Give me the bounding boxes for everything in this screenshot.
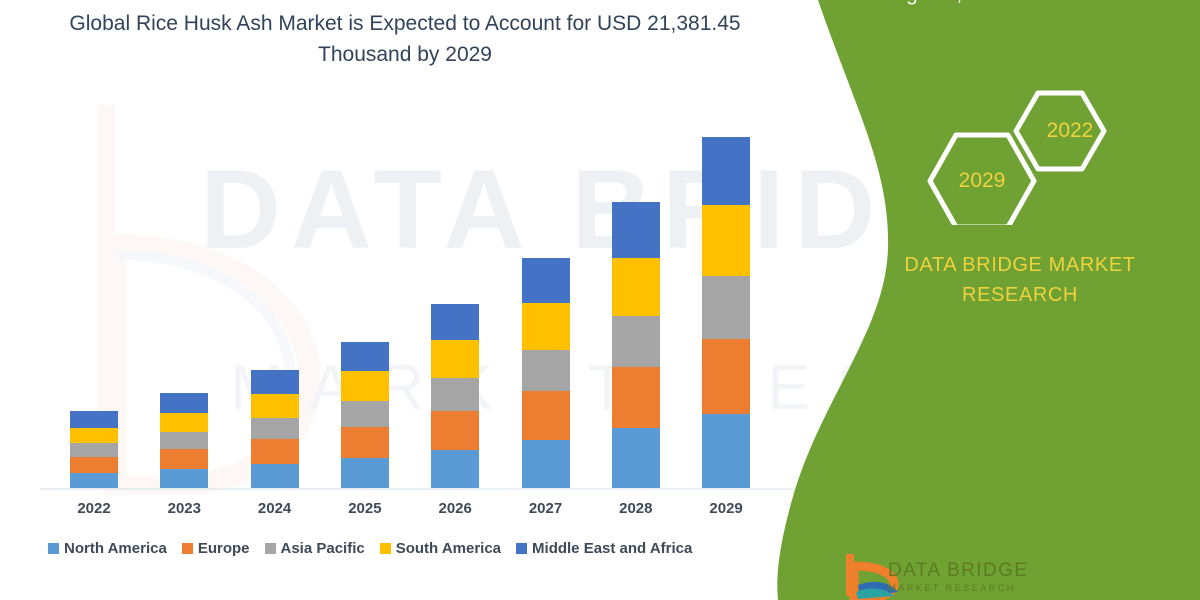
legend-swatch-asia-pacific xyxy=(265,543,276,554)
bar-2026[interactable] xyxy=(431,304,479,488)
x-axis-label-2022: 2022 xyxy=(70,500,118,517)
bar-segment-south-america[interactable] xyxy=(251,394,299,418)
bar-segment-middle-east-and-africa[interactable] xyxy=(70,411,118,428)
bar-segment-north-america[interactable] xyxy=(612,428,660,488)
x-axis-label-2023: 2023 xyxy=(160,500,208,517)
hexagon-group: 2022 2029 xyxy=(900,85,1160,225)
bar-segment-north-america[interactable] xyxy=(160,469,208,488)
footer-logo-tagline: MARKET RESEARCH xyxy=(888,583,1016,594)
bar-segment-south-america[interactable] xyxy=(702,205,750,276)
bar-segment-asia-pacific[interactable] xyxy=(612,316,660,367)
bar-segment-north-america[interactable] xyxy=(70,473,118,488)
bar-segment-europe[interactable] xyxy=(70,457,118,473)
legend-item-asia-pacific[interactable]: Asia Pacific xyxy=(265,540,365,557)
x-axis-label-2024: 2024 xyxy=(251,500,299,517)
bar-segment-asia-pacific[interactable] xyxy=(160,432,208,449)
brand-line-1: DATA BRIDGE MARKET xyxy=(860,250,1180,280)
bar-segment-north-america[interactable] xyxy=(522,440,570,488)
footer-logo-name: DATA BRIDGE xyxy=(888,560,1028,582)
bar-segment-europe[interactable] xyxy=(431,411,479,450)
bar-segment-south-america[interactable] xyxy=(160,413,208,432)
bar-segment-middle-east-and-africa[interactable] xyxy=(522,258,570,303)
x-axis-label-2029: 2029 xyxy=(702,500,750,517)
bar-segment-europe[interactable] xyxy=(160,449,208,469)
x-axis-label-2027: 2027 xyxy=(522,500,570,517)
bar-2027[interactable] xyxy=(522,258,570,488)
legend-swatch-south-america xyxy=(380,543,391,554)
bar-segment-europe[interactable] xyxy=(702,339,750,414)
chart-legend: North AmericaEuropeAsia PacificSouth Ame… xyxy=(48,540,788,557)
legend-item-north-america[interactable]: North America xyxy=(48,540,167,557)
bar-segment-north-america[interactable] xyxy=(702,414,750,488)
bar-segment-north-america[interactable] xyxy=(251,464,299,488)
bar-segment-asia-pacific[interactable] xyxy=(70,443,118,457)
bar-2024[interactable] xyxy=(251,370,299,488)
x-axis-label-2025: 2025 xyxy=(341,500,389,517)
bar-segment-asia-pacific[interactable] xyxy=(251,418,299,439)
hexagon-label-2029: 2029 xyxy=(944,169,1020,193)
bar-2028[interactable] xyxy=(612,202,660,488)
bar-segment-asia-pacific[interactable] xyxy=(431,378,479,411)
bar-segment-south-america[interactable] xyxy=(70,428,118,443)
bar-segment-asia-pacific[interactable] xyxy=(702,276,750,339)
bar-segment-middle-east-and-africa[interactable] xyxy=(251,370,299,394)
bar-segment-north-america[interactable] xyxy=(341,458,389,488)
legend-label-europe: Europe xyxy=(198,540,250,557)
legend-label-south-america: South America xyxy=(396,540,501,557)
green-panel-heading: Regions, 2022 to 2029 xyxy=(770,0,1200,10)
bar-segment-asia-pacific[interactable] xyxy=(522,350,570,391)
hexagon-label-2022: 2022 xyxy=(1032,119,1108,143)
bar-segment-south-america[interactable] xyxy=(522,303,570,350)
bar-segment-middle-east-and-africa[interactable] xyxy=(612,202,660,258)
bar-segment-middle-east-and-africa[interactable] xyxy=(341,342,389,371)
brand-block: DATA BRIDGE MARKET RESEARCH xyxy=(860,250,1180,310)
bar-segment-europe[interactable] xyxy=(251,439,299,464)
legend-item-middle-east-and-africa[interactable]: Middle East and Africa xyxy=(516,540,692,557)
bar-segment-europe[interactable] xyxy=(522,391,570,440)
chart-baseline xyxy=(40,488,800,490)
legend-swatch-middle-east-and-africa xyxy=(516,543,527,554)
bar-segment-middle-east-and-africa[interactable] xyxy=(702,137,750,205)
bar-segment-middle-east-and-africa[interactable] xyxy=(431,304,479,340)
hexagon-shapes xyxy=(900,85,1160,225)
bar-segment-north-america[interactable] xyxy=(431,450,479,488)
x-axis-label-2028: 2028 xyxy=(612,500,660,517)
legend-label-north-america: North America xyxy=(64,540,167,557)
bar-segment-europe[interactable] xyxy=(612,367,660,428)
bar-segment-europe[interactable] xyxy=(341,427,389,458)
x-axis-label-2026: 2026 xyxy=(431,500,479,517)
legend-label-asia-pacific: Asia Pacific xyxy=(281,540,365,557)
legend-item-europe[interactable]: Europe xyxy=(182,540,250,557)
legend-swatch-europe xyxy=(182,543,193,554)
bar-2022[interactable] xyxy=(70,411,118,488)
legend-label-middle-east-and-africa: Middle East and Africa xyxy=(532,540,692,557)
legend-item-south-america[interactable]: South America xyxy=(380,540,501,557)
legend-swatch-north-america xyxy=(48,543,59,554)
stacked-bar-chart: 20222023202420252026202720282029 North A… xyxy=(0,0,820,600)
bar-segment-middle-east-and-africa[interactable] xyxy=(160,393,208,413)
bar-segment-asia-pacific[interactable] xyxy=(341,401,389,427)
bar-2023[interactable] xyxy=(160,393,208,488)
bar-segment-south-america[interactable] xyxy=(431,340,479,378)
bar-2029[interactable] xyxy=(702,137,750,488)
bar-segment-south-america[interactable] xyxy=(341,371,389,401)
brand-line-2: RESEARCH xyxy=(860,280,1180,310)
bar-2025[interactable] xyxy=(341,342,389,488)
bar-segment-south-america[interactable] xyxy=(612,258,660,316)
infographic-canvas: DATA BRIDGE MARKET RESEARCH Global Rice … xyxy=(0,0,1200,600)
